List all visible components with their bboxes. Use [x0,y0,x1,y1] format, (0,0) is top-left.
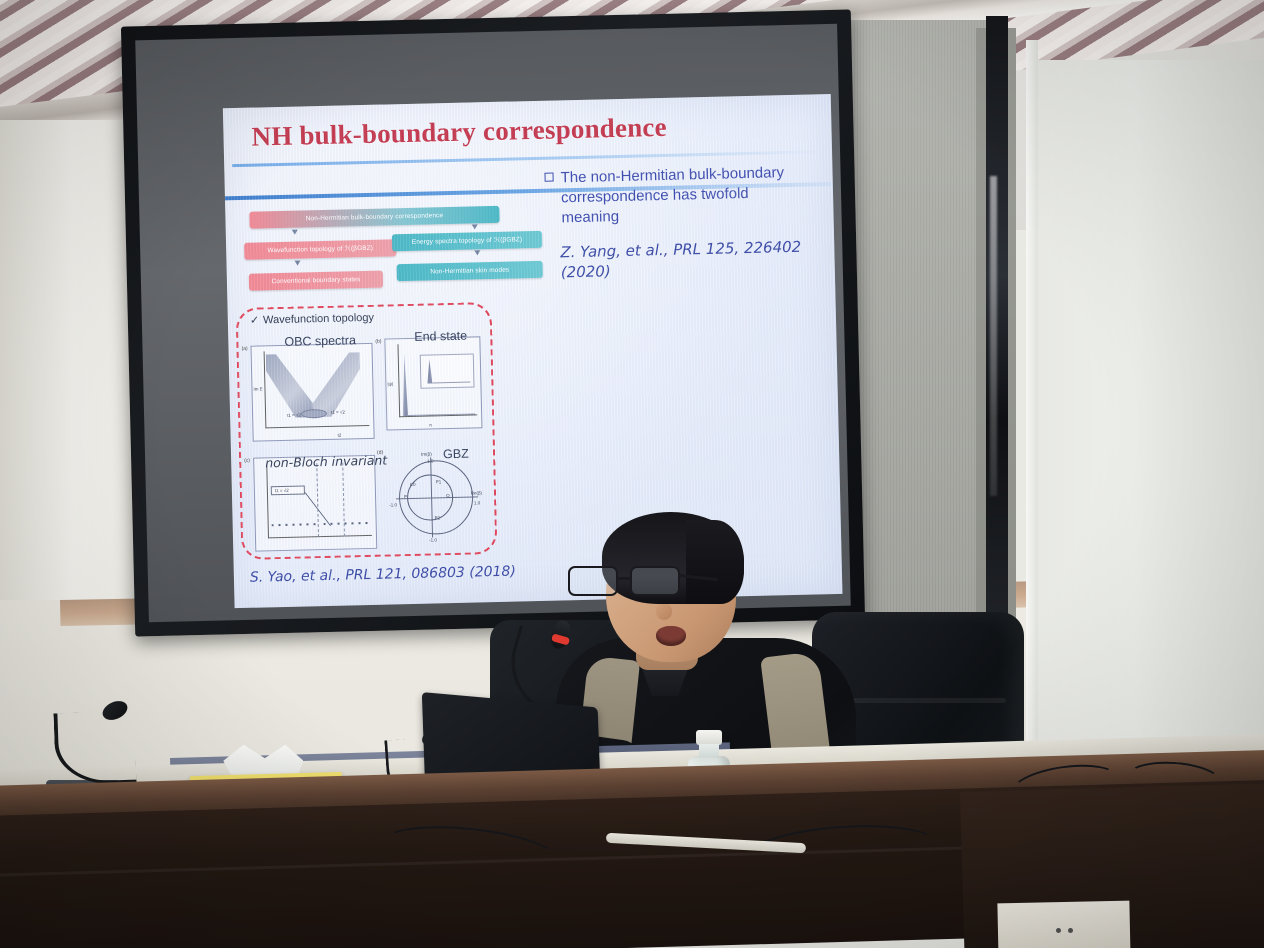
lecture-room-photo: NH bulk-boundary correspondence Non-Herm… [0,0,1264,948]
panel-a-left-lobe [266,353,313,418]
flow-box-conventional-boundary-states: Conventional boundary states [249,271,383,291]
eyeglasses-icon [568,566,706,596]
panel-b-xlabel: n [429,422,432,427]
panel-c-yaxis [266,463,269,538]
bottle-cap [696,730,722,745]
flow-box-wavefunction-topology: Wavefunction topology of ℋ(βGBZ) [244,239,396,260]
citation-top: Z. Yang, et al., PRL 125, 226402 (2020) [560,238,811,283]
panel-a-xlabel: t2 [338,433,342,438]
panel-a-label: (a) [241,346,247,352]
flow-arrow-1 [292,230,298,235]
panel-a-center-ellipse [301,409,327,419]
panel-b-label: (b) [375,339,381,345]
panel-d-title: GBZ [443,447,469,462]
panel-d-point-p: P [404,494,407,499]
panel-a-title: OBC spectra [284,333,356,349]
figure-panel-b: (b) n |ψ| [384,336,482,430]
speaker-nose [656,604,672,620]
speaker-mouth [656,626,686,646]
panel-d-real-label: Re(β) [471,490,482,495]
panel-d-imag-label: Im(β) [421,451,432,456]
panel-d-tick-left: -1.0 [389,502,397,507]
panel-d-point-p2: P2 [435,515,441,520]
panel-c-transition [305,492,356,526]
panel-a-annotation-right: t1 = √2 [331,410,345,415]
outlet-socket-holes [1056,928,1080,934]
flowchart: Non-Hermitian bulk-boundary corresponden… [243,205,535,298]
panel-b-title: End state [414,329,467,344]
panel-d-point-p1: P1 [436,479,442,484]
flow-box-skin-modes: Non-Hermitian skin modes [397,261,543,281]
power-outlet-panel[interactable] [997,901,1130,948]
slide-bullet: The non-Hermitian bulk-boundary correspo… [544,163,805,229]
panel-d-tick-top: 1.0 [427,458,433,463]
panel-b-inset-tail [432,382,470,384]
check-icon: ✓ [250,315,259,327]
figure-panel-a: (a) t1 = √2 t1 = √2 t2 Im E [250,343,374,442]
panel-d-point-q: Q [446,493,450,498]
panel-c-inset-label: t1 = √2 [275,488,289,493]
flow-arrow-3 [294,261,300,266]
panel-b-inset-spike [427,359,433,383]
flow-box-top: Non-Hermitian bulk-boundary corresponden… [249,206,499,229]
panel-d-tick-bottom: -1.0 [429,537,437,542]
panel-c-xaxis [268,535,372,538]
slide-title: NH bulk-boundary correspondence [251,108,812,152]
panel-a-right-lobe [312,352,361,417]
panel-b-edge-spike [402,354,408,416]
panel-a-ylabel: Im E [253,386,262,391]
flow-arrow-4 [474,250,480,255]
panel-b-yaxis [397,344,400,417]
panel-c-inset-label-box: t1 = √2 [271,485,305,495]
panel-b-inset [420,353,475,388]
panel-a-annotation-left: t1 = √2 [287,413,301,418]
panel-b-ylabel: |ψ| [387,381,393,386]
flow-arrow-2 [472,224,478,229]
panel-c-title: non-Bloch invariant [265,453,387,471]
panel-d-label: (d) [377,450,383,456]
panel-c-left-plateau [272,523,318,526]
panel-d-tick-right: 1.0 [474,500,480,505]
eyeglass-lens-left [568,566,618,596]
dark-wall-slit [986,16,1008,666]
panel-a-xaxis [265,425,369,428]
bullet-text: The non-Hermitian bulk-boundary correspo… [560,163,805,229]
panel-c-label: (c) [244,458,250,464]
eyeglass-lens-right [630,566,680,596]
flow-box-energy-spectra-topology: Energy spectra topology of ℋ(βGBZ) [392,231,542,252]
panel-d-point-c0: C0 [410,482,416,487]
checkbox-square-icon [544,173,553,182]
figure-panel-d: (d) Im(β) 1.0 -1.0 Re(β) 1.0 -1.0 C0 P1 … [387,448,485,546]
